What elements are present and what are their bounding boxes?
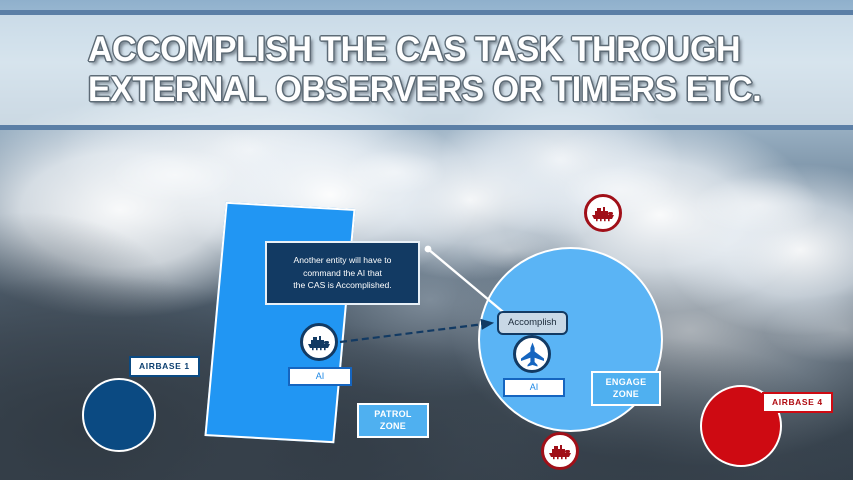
page-title-line-1: ACCOMPLISH THE CAS TASK THROUGH <box>88 30 830 70</box>
ai-ship-unit-marker[interactable] <box>300 323 338 361</box>
callout-text: Another entity will have to command the … <box>287 254 397 292</box>
ship-icon <box>306 333 332 351</box>
patrol-zone-label: PATROL ZONE <box>357 403 429 438</box>
ship-icon <box>590 204 616 222</box>
ship-icon <box>547 442 573 460</box>
ai-jet-label: AI <box>503 378 565 397</box>
airbase-4-label: AIRBASE 4 <box>762 392 833 413</box>
airbase-1-label: AIRBASE 1 <box>129 356 200 377</box>
title-banner: ACCOMPLISH THE CAS TASK THROUGH EXTERNAL… <box>0 10 853 130</box>
enemy-ship-unit-1-marker[interactable] <box>584 194 622 232</box>
airbase-1-marker[interactable] <box>82 378 156 452</box>
callout-box: Another entity will have to command the … <box>265 241 420 305</box>
ai-jet-unit-marker[interactable] <box>513 335 551 373</box>
slide-canvas: ACCOMPLISH THE CAS TASK THROUGH EXTERNAL… <box>0 0 853 480</box>
enemy-ship-unit-2-marker[interactable] <box>541 432 579 470</box>
ai-ship-label: AI <box>288 367 352 386</box>
patrol-zone-area[interactable] <box>204 202 355 443</box>
accomplish-tooltip[interactable]: Accomplish <box>497 311 568 335</box>
page-title-line-2: EXTERNAL OBSERVERS OR TIMERS ETC. <box>88 70 830 110</box>
engage-zone-label: ENGAGE ZONE <box>591 371 661 406</box>
fighter-jet-icon <box>519 341 546 368</box>
